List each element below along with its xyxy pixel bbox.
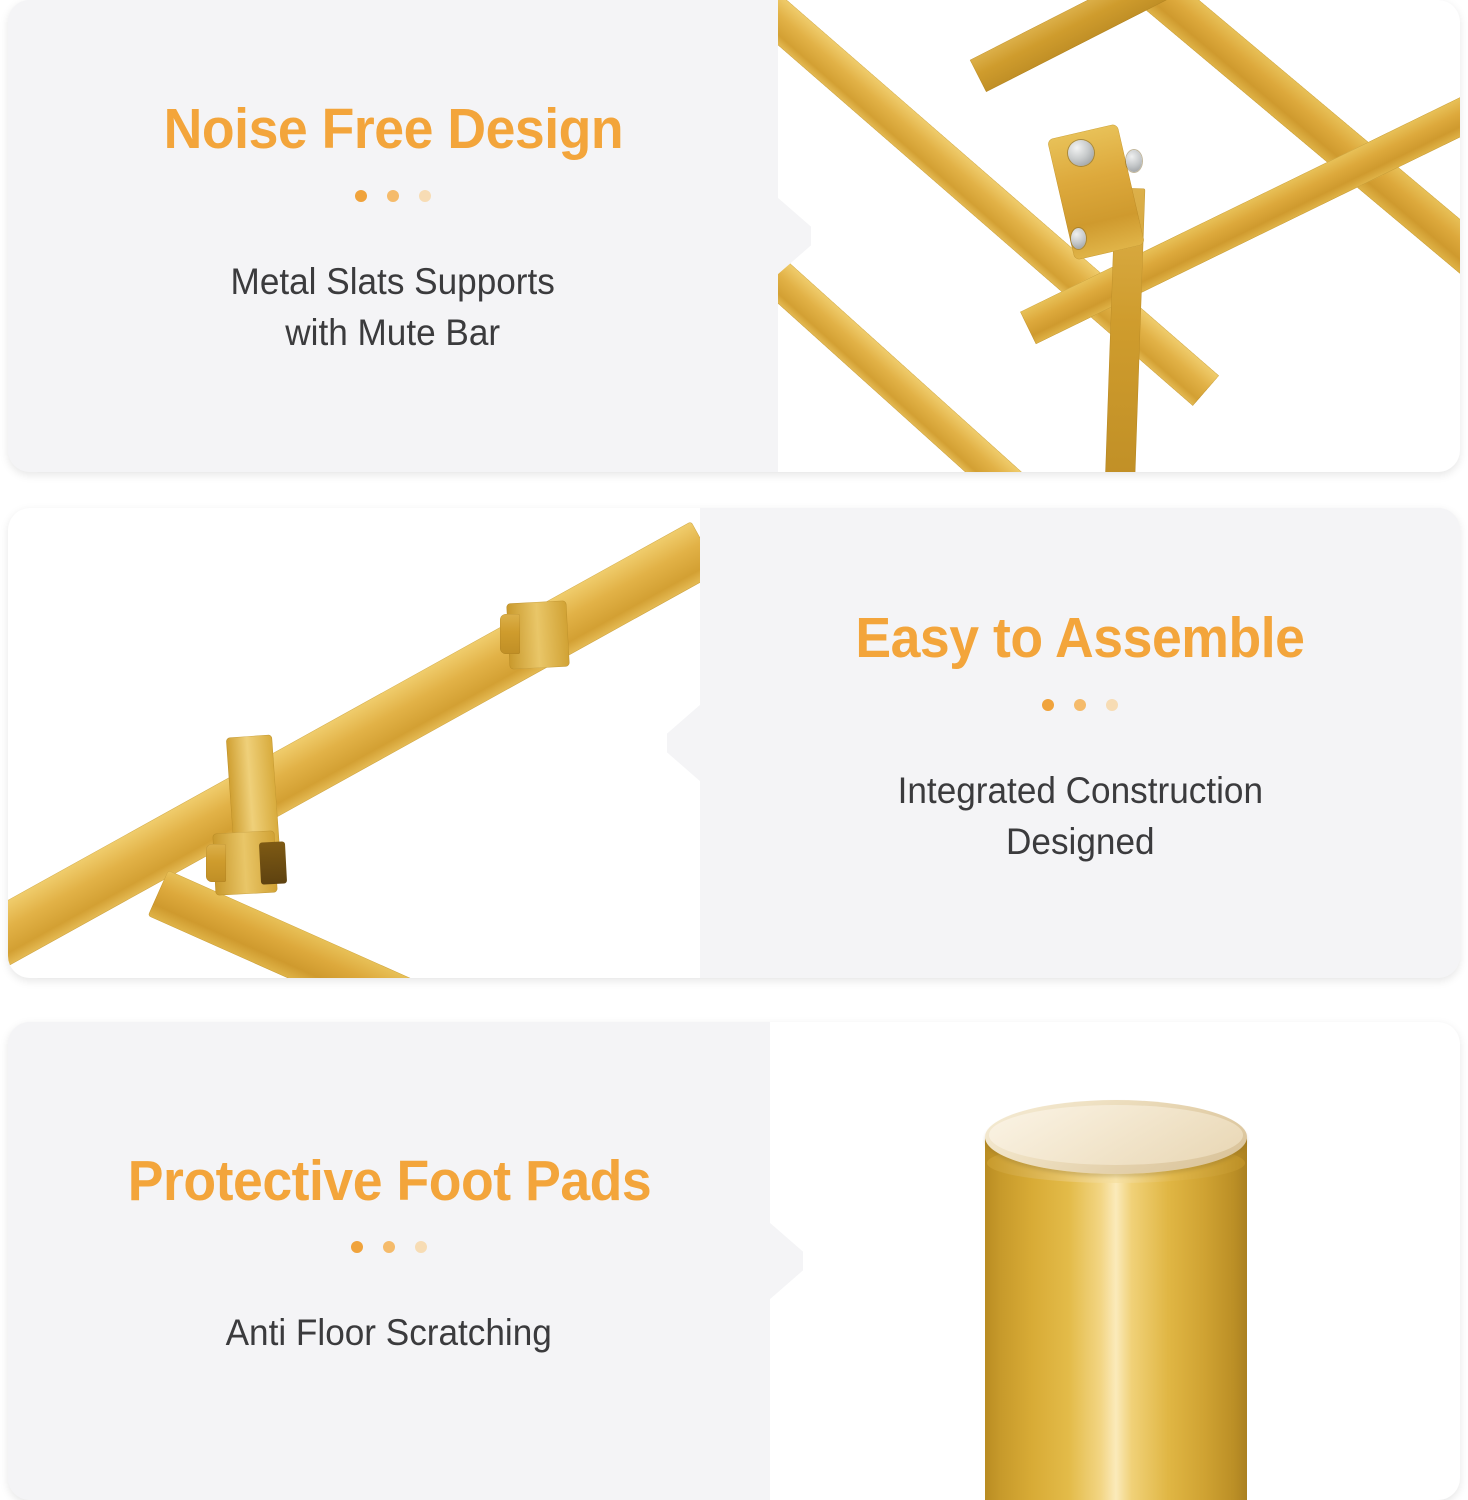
- chevron-notch-icon: [778, 197, 811, 275]
- panel-text-pane: Protective Foot Pads Anti Floor Scratchi…: [8, 1022, 770, 1500]
- divider-dots: [1042, 699, 1118, 711]
- divider-dot-icon: [1074, 699, 1086, 711]
- divider-dot-icon: [387, 190, 399, 202]
- page-title: Protective Foot Pads: [127, 1152, 651, 1212]
- panel-text-pane: Noise Free Design Metal Slats Supports w…: [8, 0, 778, 472]
- divider-dots: [351, 1241, 427, 1253]
- feature-panel-easy-to-assemble: Easy to Assemble Integrated Construction…: [8, 508, 1460, 978]
- chevron-notch-icon: [770, 1222, 803, 1300]
- panel-subtitle: Integrated Construction Designed: [897, 765, 1262, 867]
- bed-leg-cylinder: [985, 1134, 1247, 1500]
- panel-text-pane: Easy to Assemble Integrated Construction…: [700, 508, 1460, 978]
- product-photo-foot-pad: [770, 1022, 1460, 1500]
- divider-dot-icon: [1106, 699, 1118, 711]
- chevron-notch-icon: [667, 704, 700, 782]
- divider-dot-icon: [415, 1241, 427, 1253]
- divider-dot-icon: [355, 190, 367, 202]
- product-photo-metal-slat-cross: [778, 0, 1460, 472]
- divider-dots: [355, 190, 431, 202]
- page-title: Easy to Assemble: [855, 609, 1304, 669]
- panel-subtitle: Anti Floor Scratching: [226, 1307, 552, 1358]
- divider-dot-icon: [1042, 699, 1054, 711]
- divider-dot-icon: [419, 190, 431, 202]
- page-title: Noise Free Design: [163, 100, 623, 160]
- divider-dot-icon: [351, 1241, 363, 1253]
- foot-pad-cap: [985, 1100, 1247, 1174]
- feature-panel-protective-foot-pads: Protective Foot Pads Anti Floor Scratchi…: [8, 1022, 1460, 1500]
- feature-panel-noise-free-design: Noise Free Design Metal Slats Supports w…: [8, 0, 1460, 472]
- divider-dot-icon: [383, 1241, 395, 1253]
- panel-subtitle: Metal Slats Supports with Mute Bar: [231, 256, 555, 358]
- feature-infographic-board: Noise Free Design Metal Slats Supports w…: [0, 0, 1468, 1500]
- product-photo-slat-joint: [8, 508, 700, 978]
